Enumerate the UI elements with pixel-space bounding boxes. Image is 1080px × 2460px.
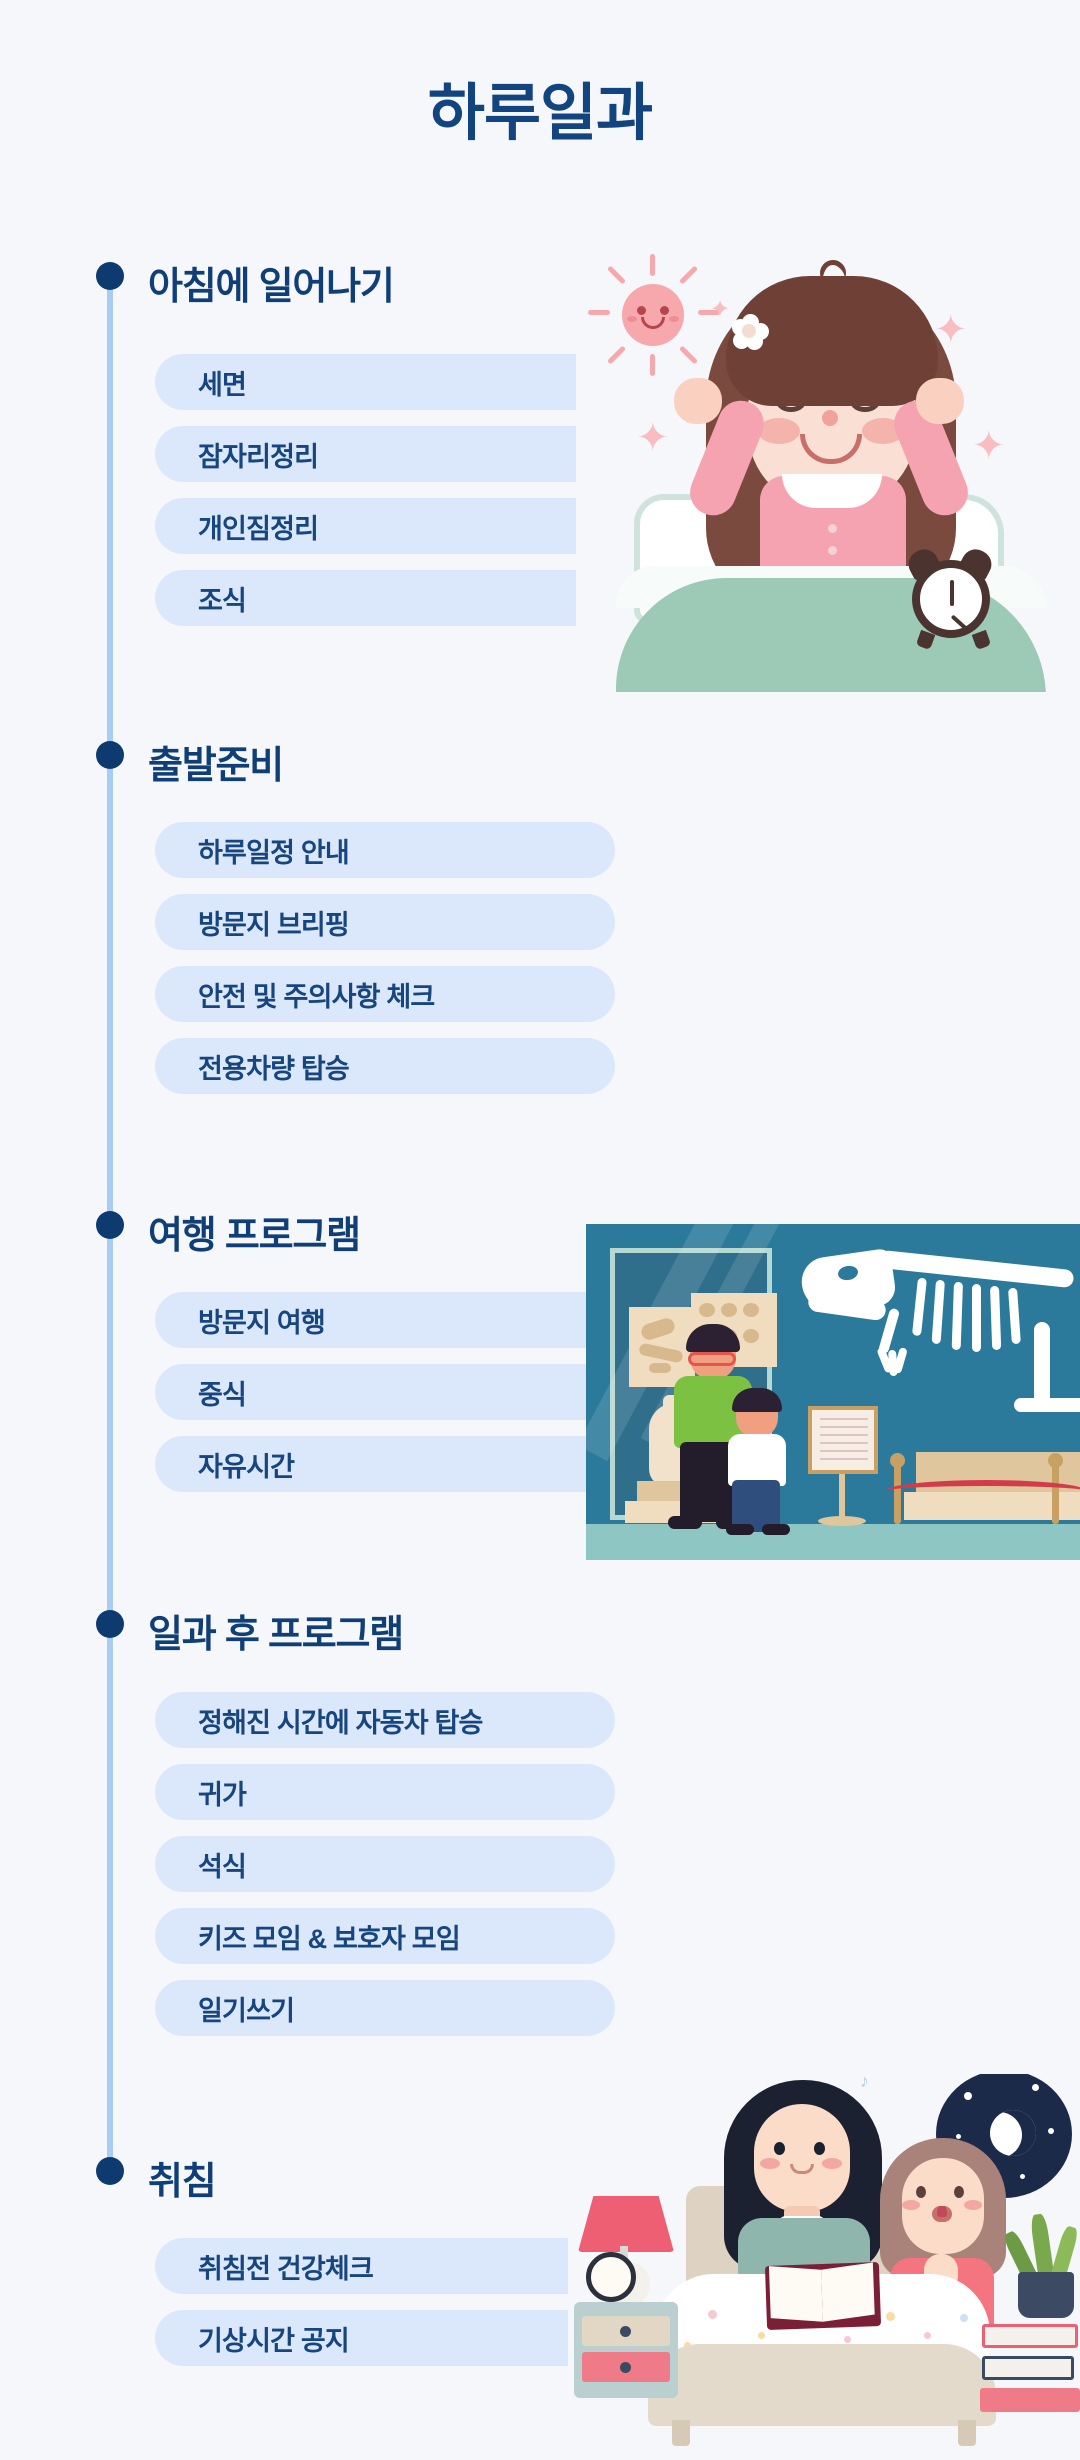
list-item-label: 정해진 시간에 자동차 탑승 (155, 1701, 483, 1740)
sun-icon (622, 284, 684, 346)
list-item[interactable]: 자유시간 (155, 1436, 615, 1492)
girl-waking-up-illustration: ✦ ✦ ✦ ✦ (576, 248, 1080, 692)
list-item-label: 자유시간 (155, 1445, 294, 1484)
list-item[interactable]: 방문지 여행 (155, 1292, 615, 1348)
list-item-label: 조식 (155, 579, 246, 618)
section-heading: 출발준비 (148, 734, 283, 789)
list-item[interactable]: 일기쓰기 (155, 1980, 615, 2036)
alarm-clock-icon (912, 560, 990, 638)
sparkle-icon: ✦ (710, 298, 730, 322)
list-item-label: 안전 및 주의사항 체크 (155, 975, 434, 1014)
section-heading: 아침에 일어나기 (148, 255, 394, 310)
list-item-label: 세면 (155, 363, 246, 402)
list-item[interactable]: 취침전 건강체크 (155, 2238, 615, 2294)
list-item[interactable]: 안전 및 주의사항 체크 (155, 966, 615, 1022)
table-lamp (578, 2196, 674, 2252)
list-item-label: 잠자리정리 (155, 435, 318, 474)
list-item[interactable]: 정해진 시간에 자동차 탑승 (155, 1692, 615, 1748)
list-item-label: 방문지 여행 (155, 1301, 325, 1340)
museum-floor (586, 1524, 1080, 1560)
list-item[interactable]: 개인짐정리 (155, 498, 615, 554)
timeline-dot (96, 1211, 124, 1239)
list-item[interactable]: 방문지 브리핑 (155, 894, 615, 950)
page-title: 하루일과 (0, 62, 1080, 152)
timeline-dot (96, 262, 124, 290)
alarm-clock-icon (586, 2252, 636, 2302)
list-item-label: 석식 (155, 1845, 246, 1884)
timeline-dot (96, 2157, 124, 2185)
info-sign (808, 1406, 878, 1474)
list-item-label: 중식 (155, 1373, 246, 1412)
sparkle-icon: ✦ (636, 418, 670, 458)
list-item-label: 일기쓰기 (155, 1989, 294, 2028)
flower-hairpin-icon (732, 314, 768, 350)
list-item-label: 취침전 건강체크 (155, 2247, 373, 2286)
list-item-label: 귀가 (155, 1773, 246, 1812)
list-item-label: 전용차량 탑승 (155, 1047, 349, 1086)
list-item[interactable]: 전용차량 탑승 (155, 1038, 615, 1094)
list-item[interactable]: 세면 (155, 354, 615, 410)
list-item[interactable]: 하루일정 안내 (155, 822, 615, 878)
list-item-label: 방문지 브리핑 (155, 903, 349, 942)
list-item[interactable]: 중식 (155, 1364, 615, 1420)
bed-frame (648, 2344, 996, 2426)
girl-fist-right (916, 378, 964, 424)
list-item[interactable]: 귀가 (155, 1764, 615, 1820)
list-item-label: 하루일정 안내 (155, 831, 349, 870)
section-heading: 여행 프로그램 (148, 1204, 360, 1259)
list-item[interactable]: 키즈 모임 & 보호자 모임 (155, 1908, 615, 1964)
list-item-label: 기상시간 공지 (155, 2319, 349, 2358)
barrier-rope (886, 1480, 1080, 1502)
nightstand (574, 2302, 678, 2398)
list-item-label: 키즈 모임 & 보호자 모임 (155, 1917, 460, 1956)
list-item-label: 개인짐정리 (155, 507, 318, 546)
girl-fist-left (674, 378, 722, 424)
child-visitor (722, 1394, 802, 1534)
timeline-dot (96, 741, 124, 769)
section-heading: 취침 (148, 2150, 216, 2205)
section-heading: 일과 후 프로그램 (148, 1603, 403, 1658)
list-item[interactable]: 석식 (155, 1836, 615, 1892)
sparkle-icon: ✦ (972, 426, 1006, 466)
bedtime-reading-illustration: ★ ★ ★ ★ ♪ (568, 2074, 1080, 2460)
list-item[interactable]: 기상시간 공지 (155, 2310, 615, 2366)
list-item[interactable]: 조식 (155, 570, 615, 626)
timeline-dot (96, 1610, 124, 1638)
museum-visit-illustration (586, 1224, 1080, 1560)
potted-plant (1018, 2272, 1074, 2318)
storybook (765, 2262, 881, 2330)
infographic-page: 하루일과 아침에 일어나기 세면 잠자리정리 개인짐정리 조식 출발준비 하루일… (0, 0, 1080, 2460)
list-item[interactable]: 잠자리정리 (155, 426, 615, 482)
